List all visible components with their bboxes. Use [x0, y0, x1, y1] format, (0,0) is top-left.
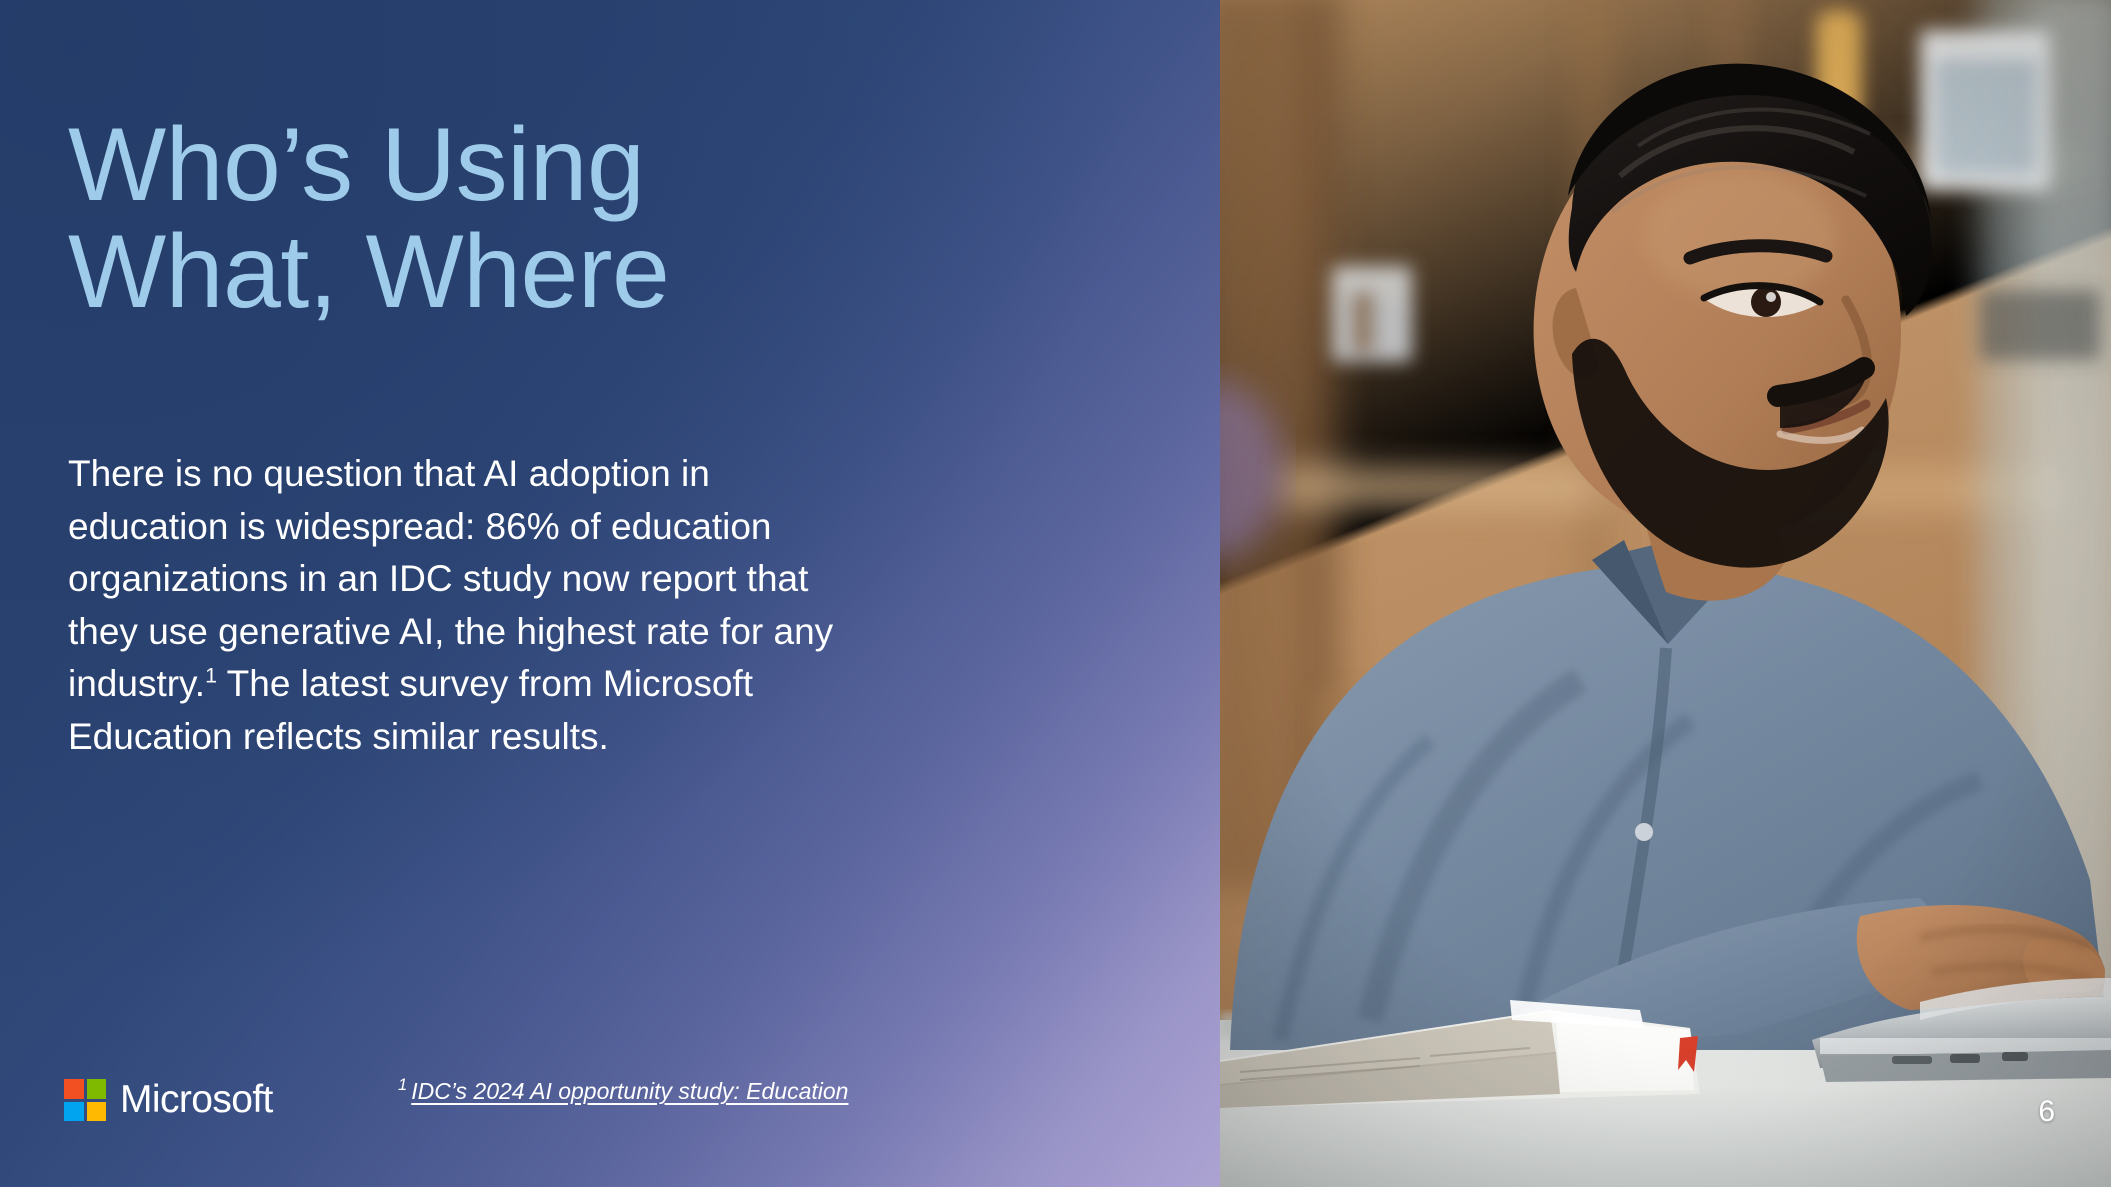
footnote-superscript-marker: 1 — [205, 664, 217, 688]
hero-photo: 6 — [1220, 0, 2111, 1187]
footnote: 1IDC’s 2024 AI opportunity study: Educat… — [398, 1078, 848, 1105]
logo-square-blue — [64, 1102, 84, 1122]
logo-square-yellow — [87, 1102, 107, 1122]
page-number: 6 — [2038, 1095, 2055, 1129]
microsoft-wordmark: Microsoft — [120, 1078, 273, 1122]
left-content-panel: Who’s Using What, Where There is no ques… — [0, 0, 1220, 1187]
microsoft-logo-squares-icon — [64, 1079, 106, 1121]
microsoft-logo: Microsoft — [64, 1078, 273, 1122]
logo-square-red — [64, 1079, 84, 1099]
logo-square-green — [87, 1079, 107, 1099]
footnote-marker: 1 — [398, 1075, 407, 1094]
slide-canvas: Who’s Using What, Where There is no ques… — [0, 0, 2111, 1187]
page-title: Who’s Using What, Where — [68, 112, 928, 326]
panel-content: Who’s Using What, Where There is no ques… — [0, 0, 1220, 1187]
footnote-source-link[interactable]: IDC’s 2024 AI opportunity study: Educati… — [411, 1078, 848, 1104]
body-paragraph: There is no question that AI adoption in… — [68, 448, 868, 763]
